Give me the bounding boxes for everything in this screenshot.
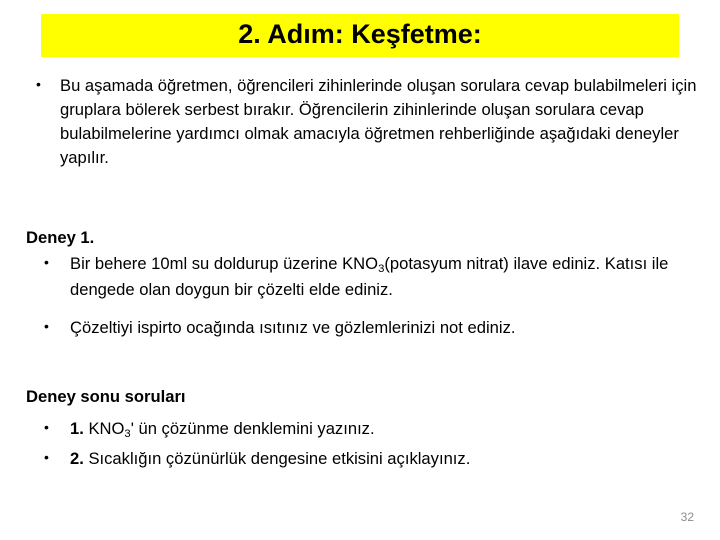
questions-heading: Deney sonu soruları — [14, 385, 708, 409]
question-text-before: Sıcaklığın çözünürlük dengesine etkisini… — [84, 449, 470, 468]
question-text-before: KNO — [84, 419, 125, 438]
page-number: 32 — [681, 510, 694, 524]
bullet-icon: • — [44, 417, 49, 437]
question-text: 2. Sıcaklığın çözünürlük dengesine etkis… — [70, 449, 470, 468]
intro-text: Bu aşamada öğretmen, öğrencileri zihinle… — [60, 74, 708, 170]
intro-paragraph: • Bu aşamada öğretmen, öğrencileri zihin… — [14, 74, 708, 170]
question-text: 1. KNO3' ün çözünme denklemini yazınız. — [70, 419, 375, 438]
bullet-icon: • — [36, 74, 41, 94]
experiment-item-text-before: Çözeltiyi ispirto ocağında ısıtınız ve g… — [70, 318, 515, 337]
page-title: 2. Adım: Keşfetme: — [41, 14, 679, 57]
title-container: 2. Adım: Keşfetme: — [0, 14, 720, 57]
experiment-item-text: Bir behere 10ml su doldurup üzerine KNO3… — [70, 254, 668, 299]
slide-canvas: 2. Adım: Keşfetme: • Bu aşamada öğretmen… — [0, 0, 720, 540]
question-number: 2. — [70, 449, 84, 468]
experiment-item-text: Çözeltiyi ispirto ocağında ısıtınız ve g… — [70, 318, 515, 337]
list-item: • Bir behere 10ml su doldurup üzerine KN… — [14, 252, 708, 302]
questions-heading-container: Deney sonu soruları — [14, 385, 708, 409]
bullet-icon: • — [44, 316, 49, 336]
list-item: • 2. Sıcaklığın çözünürlük dengesine etk… — [14, 447, 708, 471]
bullet-icon: • — [44, 447, 49, 467]
list-item: • 1. KNO3' ün çözünme denklemini yazınız… — [14, 417, 708, 443]
experiment-heading-container: Deney 1. — [14, 226, 708, 250]
experiment-item-text-before: Bir behere 10ml su doldurup üzerine KNO — [70, 254, 378, 273]
question-number: 1. — [70, 419, 84, 438]
question-text-after: ' ün çözünme denklemini yazınız. — [131, 419, 375, 438]
list-item: • Çözeltiyi ispirto ocağında ısıtınız ve… — [14, 316, 708, 340]
bullet-icon: • — [44, 252, 49, 272]
experiment-heading: Deney 1. — [14, 226, 708, 250]
